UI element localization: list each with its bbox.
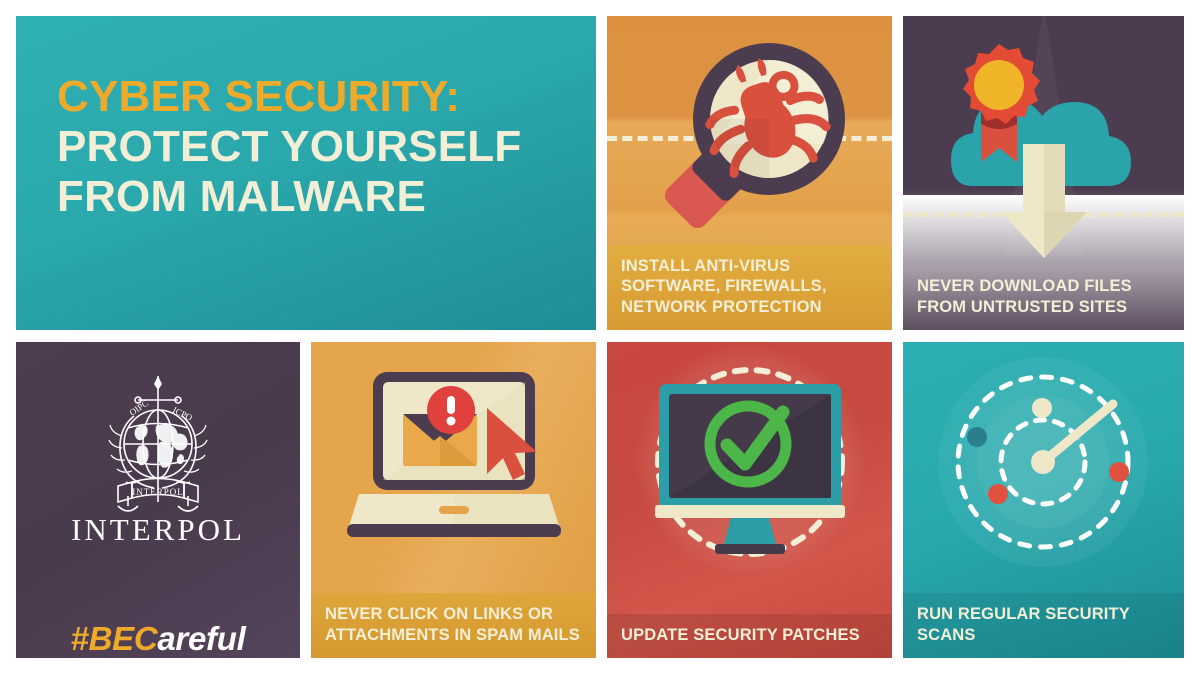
- radar-scan-icon: [903, 342, 1184, 592]
- interpol-emblem-icon: OIPC ICPO INTERPOL: [92, 370, 224, 516]
- monitor-checkmark-icon: [607, 342, 892, 592]
- tile-spam: NEVER CLICK ON LINKS OR ATTACHMENTS IN S…: [311, 342, 596, 658]
- magnifier-bug-icon: [607, 16, 892, 266]
- tile-caption: NEVER CLICK ON LINKS OR ATTACHMENTS IN S…: [311, 593, 596, 658]
- tile-caption: INSTALL ANTI-VIRUS SOFTWARE, FIREWALLS, …: [607, 245, 892, 331]
- laptop-spam-mail-icon: [311, 348, 596, 598]
- tile-patches: UPDATE SECURITY PATCHES: [607, 342, 892, 658]
- hashtag-rest: areful: [157, 620, 245, 657]
- title-accent-line: CYBER SECURITY:: [57, 72, 567, 122]
- tile-brand: OIPC ICPO INTERPOL INTERPOL #BECareful: [16, 342, 300, 658]
- emblem-banner-text: INTERPOL: [132, 487, 184, 497]
- tile-caption: UPDATE SECURITY PATCHES: [607, 614, 892, 659]
- interpol-wordmark: INTERPOL: [16, 512, 300, 548]
- tile-scans: RUN REGULAR SECURITY SCANS: [903, 342, 1184, 658]
- tile-caption: NEVER DOWNLOAD FILES FROM UNTRUSTED SITE…: [903, 265, 1184, 330]
- hero-tile: CYBER SECURITY: PROTECT YOURSELF FROM MA…: [16, 16, 596, 330]
- hashtag-accent: #BEC: [71, 620, 158, 657]
- hashtag-becareful: #BECareful: [16, 620, 300, 658]
- page-title: CYBER SECURITY: PROTECT YOURSELF FROM MA…: [57, 72, 567, 222]
- tile-antivirus: INSTALL ANTI-VIRUS SOFTWARE, FIREWALLS, …: [607, 16, 892, 330]
- title-main-line: PROTECT YOURSELF FROM MALWARE: [57, 122, 567, 222]
- emblem-text-left: OIPC: [128, 398, 151, 418]
- tile-caption: RUN REGULAR SECURITY SCANS: [903, 593, 1184, 658]
- cloud-download-badge-icon: [903, 16, 1184, 266]
- tile-download: NEVER DOWNLOAD FILES FROM UNTRUSTED SITE…: [903, 16, 1184, 330]
- infographic-canvas: CYBER SECURITY: PROTECT YOURSELF FROM MA…: [0, 0, 1200, 675]
